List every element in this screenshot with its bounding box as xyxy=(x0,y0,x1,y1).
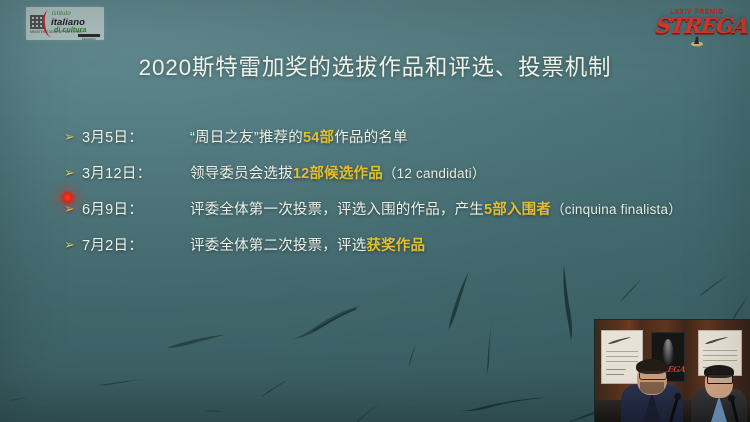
logo-ministry-footnote: MINISTERO DEGLI AFFARI ESTERI xyxy=(30,31,82,35)
video-scene: STREGA xyxy=(595,320,750,422)
participant-beard xyxy=(640,382,664,394)
bullet-body: “周日之友”推荐的54部作品的名单 xyxy=(190,126,408,147)
bullet-text-before: 领导委员会选拔 xyxy=(190,166,293,182)
slide-bullet-list: ➢ 3月5日： “周日之友”推荐的54部作品的名单 ➢ 3月12日： 领导委员会… xyxy=(64,118,710,262)
participant-video-panel[interactable]: STREGA xyxy=(594,319,750,422)
list-item: ➢ 7月2日： 评委全体第二次投票，评选获奖作品 xyxy=(64,226,710,262)
list-item: ➢ 3月12日： 领导委员会选拔12部候选作品（12 candidati） xyxy=(64,154,710,190)
bullet-highlight: 5部入围者 xyxy=(484,202,551,218)
participant-glasses xyxy=(707,374,733,384)
bullet-date: 3月12日： xyxy=(82,162,190,183)
bullet-italian: （12 candidati） xyxy=(383,166,486,181)
bullet-body: 评委全体第二次投票，评选获奖作品 xyxy=(190,234,425,255)
bullet-arrow-icon: ➢ xyxy=(64,238,82,251)
bullet-body: 领导委员会选拔12部候选作品（12 candidati） xyxy=(190,162,486,183)
bullet-text-before: “周日之友”推荐的 xyxy=(190,130,303,146)
quill-icon xyxy=(608,336,632,345)
premio-strega-logo: LXXIV PREMIO STREGA xyxy=(656,2,738,50)
list-item: ➢ 3月5日： “周日之友”推荐的54部作品的名单 xyxy=(64,118,710,154)
bullet-text-before: 评委全体第一次投票，评选入围的作品，产生 xyxy=(190,202,484,218)
bullet-date: 7月2日： xyxy=(82,234,190,255)
bullet-highlight: 54部 xyxy=(303,130,334,146)
list-item: ➢ 6月9日： 评委全体第一次投票，评选入围的作品，产生5部入围者（cinqui… xyxy=(64,190,710,226)
bullet-date: 3月5日： xyxy=(82,126,190,147)
logo-city: PECHINO xyxy=(82,37,96,40)
participant-right xyxy=(691,364,747,422)
istituto-italiano-cultura-logo: istituto italiano di cultura MINISTERO D… xyxy=(26,7,104,40)
bullet-italian: （cinquina finalista） xyxy=(551,202,682,217)
slide-title: 2020斯特雷加奖的选拔作品和评选、投票机制 xyxy=(0,50,750,82)
bullet-text-after: 作品的名单 xyxy=(334,130,408,146)
quill-icon xyxy=(705,336,729,345)
bullet-text-before: 评委全体第二次投票，评选 xyxy=(190,238,366,254)
presentation-screenshare: istituto italiano di cultura MINISTERO D… xyxy=(0,0,750,422)
witch-icon xyxy=(690,36,704,47)
bullet-highlight: 获奖作品 xyxy=(366,238,425,254)
bullet-highlight: 12部候选作品 xyxy=(293,166,383,182)
bullet-body: 评委全体第一次投票，评选入围的作品，产生5部入围者（cinquina final… xyxy=(190,198,682,219)
participant-glasses xyxy=(639,371,667,380)
prize-wordmark: STREGA xyxy=(655,13,740,38)
bullet-date: 6月9日： xyxy=(82,198,190,219)
bullet-arrow-icon: ➢ xyxy=(64,130,82,143)
bullet-arrow-icon: ➢ xyxy=(64,202,82,215)
bullet-arrow-icon: ➢ xyxy=(64,166,82,179)
